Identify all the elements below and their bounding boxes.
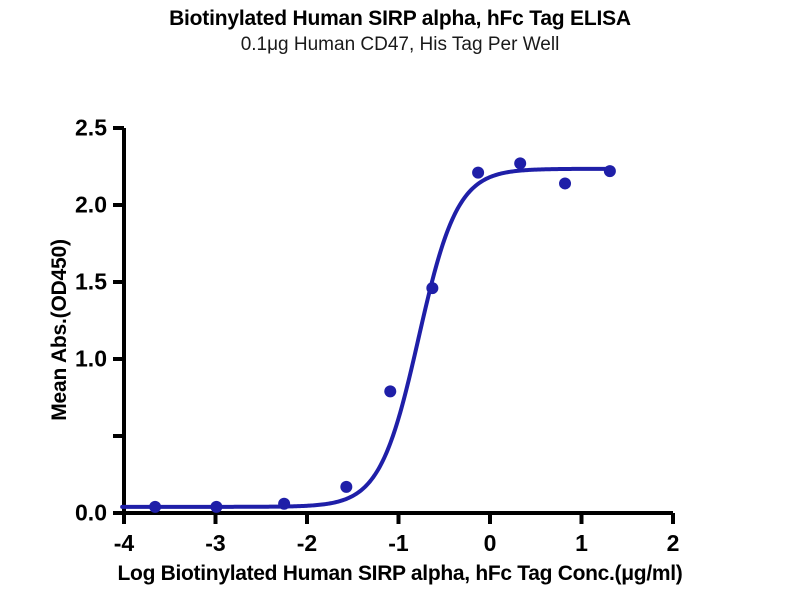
x-tick-label: 2: [667, 530, 680, 557]
elisa-binding-chart-figure: Biotinylated Human SIRP alpha, hFc Tag E…: [0, 0, 800, 600]
x-tick-label: -1: [388, 530, 408, 557]
y-axis-title: Mean Abs.(OD450): [48, 120, 72, 540]
plot-area: [0, 0, 800, 600]
x-tick-label: 1: [575, 530, 588, 557]
axis-lines: [124, 128, 673, 513]
data-point-marker: [514, 157, 526, 169]
x-tick-label: 0: [484, 530, 497, 557]
data-point-marker: [472, 167, 484, 179]
data-point-marker: [278, 498, 290, 510]
data-point-marker: [210, 501, 222, 513]
x-tick-label: -4: [114, 530, 134, 557]
data-point-marker: [604, 165, 616, 177]
axis-tick-marks: [113, 128, 673, 524]
x-tick-label: -2: [297, 530, 317, 557]
data-point-marker: [559, 177, 571, 189]
data-point-marker: [149, 501, 161, 513]
sigmoid-fit-curve: [122, 169, 610, 507]
data-point-marker: [340, 481, 352, 493]
x-tick-label: -3: [205, 530, 225, 557]
data-point-marker: [384, 385, 396, 397]
data-point-marker: [426, 282, 438, 294]
x-axis-title: Log Biotinylated Human SIRP alpha, hFc T…: [0, 562, 800, 586]
